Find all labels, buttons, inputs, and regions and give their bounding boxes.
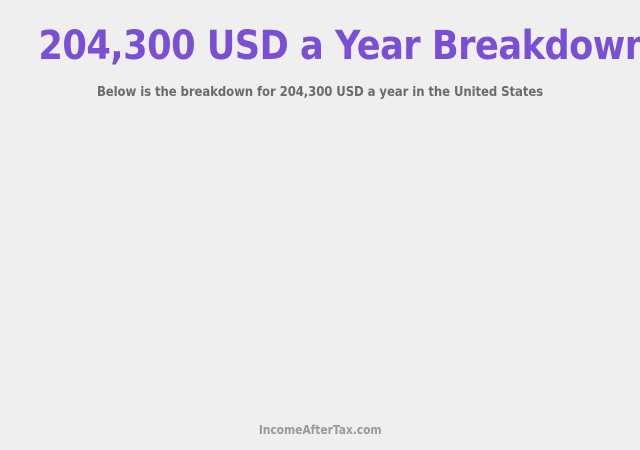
page-footer: IncomeAfterTax.com — [0, 421, 640, 439]
page-title: 204,300 USD a Year Breakdown — [38, 22, 601, 70]
breakdown-page: 204,300 USD a Year Breakdown Below is th… — [0, 0, 640, 450]
breakdown-content-area — [0, 118, 640, 408]
page-subtitle: Below is the breakdown for 204,300 USD a… — [32, 84, 608, 102]
site-credit-label: IncomeAfterTax.com — [259, 422, 382, 438]
